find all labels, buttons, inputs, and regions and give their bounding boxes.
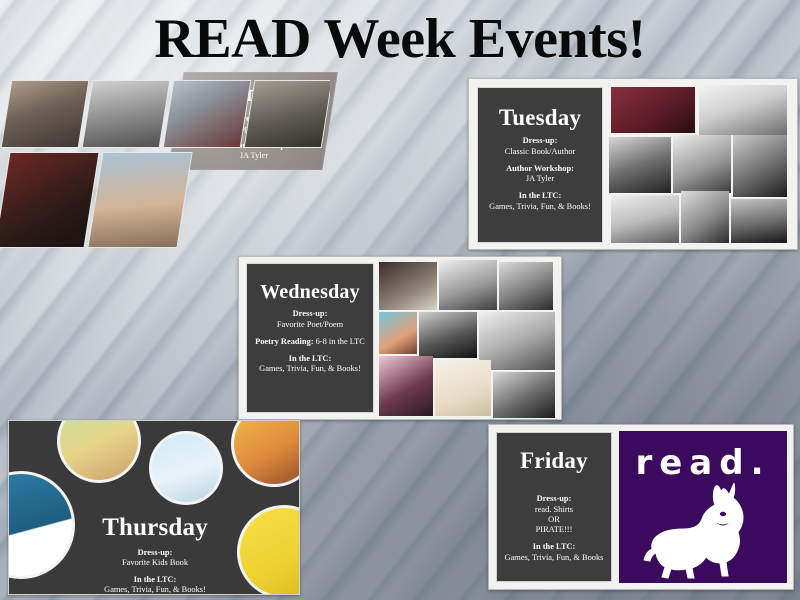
- wednesday-poetry: Poetry Reading: 6-8 in the LTC: [254, 337, 366, 347]
- wednesday-poet-photo-5: [419, 312, 477, 358]
- friday-day-label: Friday: [504, 449, 604, 472]
- wednesday-dressup-value: Favorite Poet/Poem: [254, 320, 366, 330]
- tuesday-dressup-value: Classic Book/Author: [485, 147, 595, 157]
- thursday-dressup-value: Favorite Kids Book: [16, 558, 294, 568]
- monday-photo-3: [163, 80, 252, 148]
- wednesday-ltc-value: Games, Trivia, Fun, & Books!: [254, 364, 366, 374]
- wednesday-poet-collage: [379, 260, 559, 418]
- tuesday-author-photo-6: [611, 195, 679, 243]
- tuesday-day-label: Tuesday: [485, 106, 595, 129]
- wednesday-poet-book-cover: [435, 360, 491, 416]
- friday-dressup-label: Dress-up:: [504, 494, 604, 504]
- thursday-ltc-label: In the LTC:: [16, 575, 294, 585]
- tuesday-author-photo-4: [673, 135, 731, 193]
- tuesday-workshop-value: JA Tyler: [485, 174, 595, 184]
- tuesday-ltc-value: Games, Trivia, Fun, & Books!: [485, 202, 595, 212]
- thursday-info-panel: Thursday Dress-up: Favorite Kids Book In…: [9, 509, 300, 595]
- tuesday-author-photo-7: [681, 191, 729, 243]
- monday-card: [0, 78, 330, 250]
- thursday-book-cover-3: [231, 420, 300, 487]
- tuesday-author-photo-3: [609, 137, 671, 193]
- thursday-day-label: Thursday: [16, 515, 294, 541]
- thursday-book-cover-2: [149, 431, 223, 505]
- wednesday-ltc: In the LTC: Games, Trivia, Fun, & Books!: [254, 354, 366, 375]
- friday-dressup-value-2: OR: [504, 515, 604, 525]
- page-title: READ Week Events!: [0, 8, 800, 70]
- donkey-silhouette-icon: [637, 483, 769, 579]
- thursday-dressup: Dress-up: Favorite Kids Book: [16, 548, 294, 569]
- thursday-ltc-value: Games, Trivia, Fun, & Books!: [16, 585, 294, 595]
- tuesday-ltc: In the LTC: Games, Trivia, Fun, & Books!: [485, 191, 595, 212]
- tuesday-info-panel: Tuesday Dress-up: Classic Book/Author Au…: [477, 87, 603, 243]
- friday-ltc: In the LTC: Games, Trivia, Fun, & Books: [504, 542, 604, 563]
- thursday-ltc: In the LTC: Games, Trivia, Fun, & Books!: [16, 575, 294, 595]
- friday-dressup-value-1: read. Shirts: [504, 505, 604, 515]
- friday-read-poster: read.: [619, 431, 787, 583]
- friday-card: Friday Dress-up: read. Shirts OR PIRATE!…: [488, 424, 794, 590]
- wednesday-poet-photo-4: [379, 312, 417, 354]
- tuesday-author-collage: [609, 85, 791, 245]
- thursday-dressup-label: Dress-up:: [16, 548, 294, 558]
- tuesday-author-photo-2: [699, 85, 787, 135]
- monday-photo-1: [1, 80, 90, 148]
- friday-read-text: read.: [619, 443, 787, 483]
- tuesday-card: Tuesday Dress-up: Classic Book/Author Au…: [468, 78, 798, 250]
- friday-ltc-value: Games, Trivia, Fun, & Books: [504, 553, 604, 563]
- wednesday-day-label: Wednesday: [254, 282, 366, 302]
- tuesday-workshop: Author Workshop: JA Tyler: [485, 164, 595, 185]
- friday-info-panel: Friday Dress-up: read. Shirts OR PIRATE!…: [496, 432, 612, 582]
- wednesday-poetry-value: 6-8 in the LTC: [316, 337, 365, 346]
- friday-dressup: Dress-up: read. Shirts OR PIRATE!!!: [504, 494, 604, 535]
- wednesday-ltc-label: In the LTC:: [254, 354, 366, 364]
- tuesday-dressup-label: Dress-up:: [485, 136, 595, 146]
- wednesday-info-panel: Wednesday Dress-up: Favorite Poet/Poem P…: [246, 263, 374, 413]
- slide-canvas: READ Week Events! Monday Dress-up: Dysto…: [0, 0, 800, 600]
- wednesday-poet-photo-2: [439, 260, 497, 310]
- tuesday-ltc-label: In the LTC:: [485, 191, 595, 201]
- wednesday-card: Wednesday Dress-up: Favorite Poet/Poem P…: [238, 256, 562, 420]
- monday-photo-2: [82, 80, 171, 148]
- friday-dressup-value-3: PIRATE!!!: [504, 525, 604, 535]
- thursday-book-cover-1: [57, 420, 141, 483]
- wednesday-dressup: Dress-up: Favorite Poet/Poem: [254, 309, 366, 330]
- wednesday-poet-photo-8: [493, 372, 555, 418]
- friday-ltc-label: In the LTC:: [504, 542, 604, 552]
- tuesday-author-photo-8: [731, 199, 787, 243]
- tuesday-workshop-label: Author Workshop:: [485, 164, 595, 174]
- wednesday-poet-photo-3: [499, 262, 553, 310]
- thursday-card: Thursday Dress-up: Favorite Kids Book In…: [8, 420, 300, 595]
- monday-photo-strip-bottom: [2, 152, 328, 248]
- monday-photo-strip-top: [6, 80, 328, 148]
- monday-photo-5: [0, 152, 100, 248]
- tuesday-dressup: Dress-up: Classic Book/Author: [485, 136, 595, 157]
- tuesday-author-photo-1: [611, 87, 695, 133]
- monday-photo-4: [244, 80, 330, 148]
- wednesday-poet-photo-7: [379, 356, 433, 416]
- wednesday-poet-photo-1: [379, 262, 437, 310]
- wednesday-poetry-label: Poetry Reading:: [255, 337, 313, 346]
- wednesday-dressup-label: Dress-up:: [254, 309, 366, 319]
- tuesday-author-photo-5: [733, 135, 787, 197]
- monday-photo-6: [87, 152, 192, 248]
